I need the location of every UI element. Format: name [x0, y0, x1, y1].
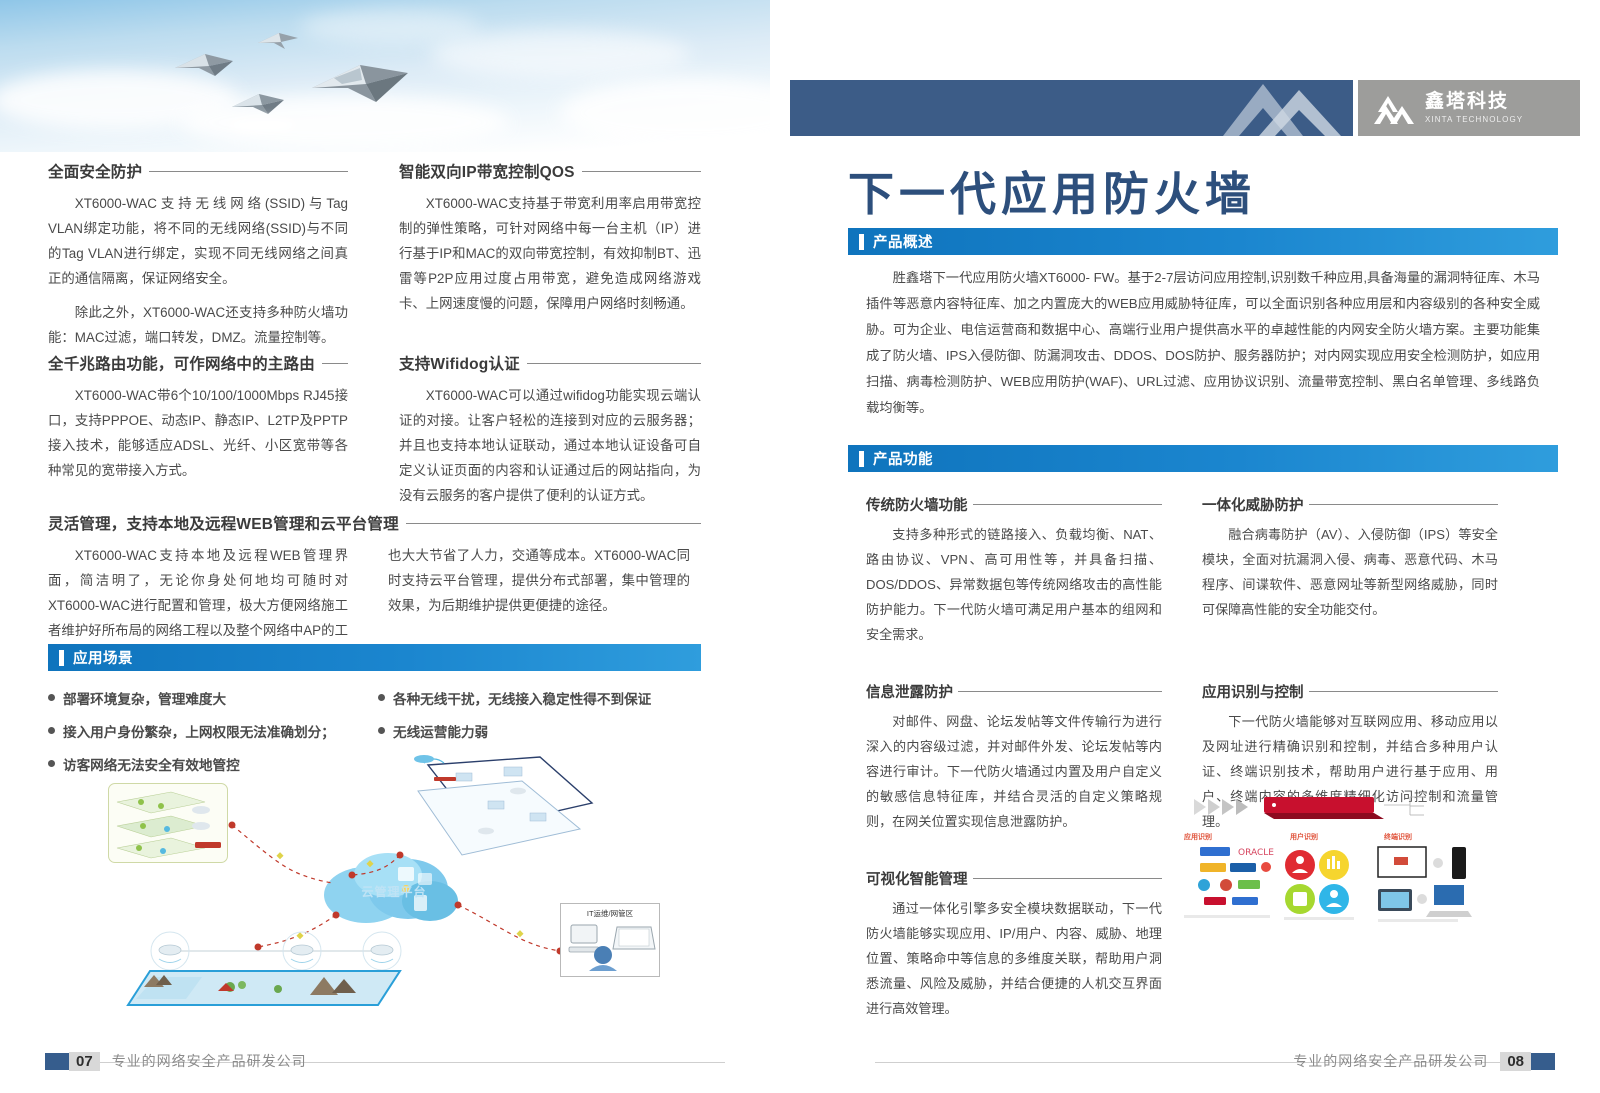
section-block-2: 智能双向IP带宽控制QOS XT6000-WAC支持基于带宽利用率启用带宽控制的… — [399, 160, 701, 316]
header-mountain-watermark — [1163, 80, 1353, 136]
section-heading: 智能双向IP带宽控制QOS — [399, 160, 701, 182]
heading-rule — [322, 363, 348, 364]
function-item-integrated-threat: 一体化威胁防护 融合病毒防护（AV）、入侵防御（IPS）等安全模块，全面对抗漏洞… — [1202, 494, 1498, 647]
function-title: 一体化威胁防护 — [1202, 494, 1498, 515]
function-title: 可视化智能管理 — [866, 868, 1162, 889]
list-item-label: 部署环境复杂，管理难度大 — [63, 688, 226, 708]
list-item-label: 接入用户身份繁杂，上网权限无法准确划分； — [63, 721, 335, 741]
section-paragraph: XT6000-WAC带6个10/100/1000Mbps RJ45接口，支持PP… — [48, 383, 348, 483]
paper-plane-icon — [232, 92, 284, 116]
brand-name-en: XINTA TECHNOLOGY — [1425, 115, 1523, 124]
bullet-dot-icon — [48, 727, 55, 734]
page-number: 08 — [1500, 1052, 1531, 1071]
section-paragraph: XT6000-WAC支持无线网络(SSID)与Tag VLAN绑定功能，将不同的… — [48, 191, 348, 291]
footer-bar-accent — [1531, 1053, 1555, 1070]
footer-slogan: 专业的网络安全产品研发公司 — [1293, 1051, 1488, 1071]
heading-rule — [149, 171, 348, 172]
function-item-visual-management: 可视化智能管理 通过一体化引擎多安全模块数据联动，下一代防火墙能够实现应用、IP… — [866, 868, 1162, 1021]
svg-text:ORACLE: ORACLE — [1238, 848, 1274, 858]
section-heading: 支持Wifidog认证 — [399, 352, 701, 374]
paper-plane-icon — [175, 52, 233, 78]
section-paragraph: 也大大节省了人力，交通等成本。XT6000-WAC同时支持云平台管理，提供分布式… — [388, 543, 690, 618]
bullet-dot-icon — [48, 760, 55, 767]
footer-bar-accent — [45, 1053, 69, 1070]
footer-left: 07 专业的网络安全产品研发公司 — [45, 1051, 307, 1071]
heading-rule — [1309, 504, 1499, 505]
scenic-area-illustration — [110, 965, 410, 1007]
heading-rule — [406, 523, 701, 524]
bullet-dot-icon — [48, 694, 55, 701]
cloud-shape — [300, 10, 480, 44]
function-text: 融合病毒防护（AV）、入侵防御（IPS）等安全模块，全面对抗漏洞入侵、病毒、恶意… — [1202, 522, 1498, 622]
brand-logo-box: 鑫塔科技 XINTA TECHNOLOGY — [1358, 80, 1580, 136]
paper-plane-icon — [312, 62, 408, 104]
list-item: 部署环境复杂，管理难度大 — [48, 688, 378, 708]
bullet-dot-icon — [378, 727, 385, 734]
bar-tick — [859, 234, 864, 250]
function-title: 传统防火墙功能 — [866, 494, 1162, 515]
function-title: 信息泄露防护 — [866, 681, 1162, 702]
right-page: 鑫塔科技 XINTA TECHNOLOGY 下一代应用防火墙 产品概述 胜鑫塔下… — [770, 0, 1600, 1093]
footer-right: 专业的网络安全产品研发公司 08 — [1293, 1051, 1555, 1071]
function-item-traditional-firewall: 传统防火墙功能 支持多种形式的链路接入、负载均衡、NAT、路由协议、VPN、高可… — [866, 494, 1162, 647]
section-paragraph: 除此之外，XT6000-WAC还支持多种防火墙功能：MAC过滤，端口转发，DMZ… — [48, 300, 348, 350]
lens-flare — [228, 118, 298, 132]
heading-rule — [958, 691, 1162, 692]
overview-bar: 产品概述 — [848, 228, 1558, 255]
heading-rule — [1309, 691, 1499, 692]
svg-text:终端识别: 终端识别 — [1384, 832, 1412, 841]
function-title: 应用识别与控制 — [1202, 681, 1498, 702]
sky-hero-image — [0, 0, 770, 152]
scenario-bar: 应用场景 — [48, 644, 701, 671]
svg-text:用户识别: 用户识别 — [1290, 832, 1318, 841]
brand-name-cn: 鑫塔科技 — [1425, 92, 1523, 111]
page-number: 07 — [69, 1052, 100, 1071]
section-paragraph: XT6000-WAC支持基于带宽利用率启用带宽控制的弹性策略，可针对网络中每一台… — [399, 191, 701, 316]
section-heading: 全面安全防护 — [48, 160, 348, 182]
left-page: 全面安全防护 XT6000-WAC支持无线网络(SSID)与Tag VLAN绑定… — [0, 0, 770, 1093]
network-topology-diagram: 云管理平台 IT运维/网 — [100, 755, 660, 1005]
xinta-mountain-icon — [1374, 90, 1416, 126]
header-navy-band — [790, 80, 1353, 136]
list-item: 各种无线干扰，无线接入稳定性得不到保证 — [378, 688, 678, 708]
overview-bar-label: 产品概述 — [873, 231, 933, 252]
it-ops-zone-box: IT运维/网管区 — [560, 903, 660, 977]
heading-rule — [973, 504, 1163, 505]
recognition-graphic: 应用识别 用户识别 终端识别 ORACLE — [1172, 793, 1472, 933]
section-heading: 全千兆路由功能，可作网络中的主路由 — [48, 352, 348, 374]
heading-rule — [527, 363, 701, 364]
cloud-shape — [560, 78, 770, 148]
section-block-3: 全千兆路由功能，可作网络中的主路由 XT6000-WAC带6个10/100/10… — [48, 352, 348, 483]
list-item-label: 无线运营能力弱 — [393, 721, 488, 741]
function-text: 支持多种形式的链路接入、负载均衡、NAT、路由协议、VPN、高可用性等，并具备扫… — [866, 522, 1162, 647]
list-item: 无线运营能力弱 — [378, 721, 678, 741]
function-text: 通过一体化引擎多安全模块数据联动，下一代防火墙能够实现应用、IP/用户、内容、威… — [866, 896, 1162, 1021]
bar-tick — [859, 451, 864, 467]
section-paragraph: XT6000-WAC可以通过wifidog功能实现云端认证的对接。让客户轻松的连… — [399, 383, 701, 508]
page-header: 鑫塔科技 XINTA TECHNOLOGY — [790, 80, 1580, 138]
overview-paragraph: 胜鑫塔下一代应用防火墙XT6000- FW。基于2-7层访问应用控制,识别数千种… — [848, 265, 1558, 421]
function-item-data-leak: 信息泄露防护 对邮件、网盘、论坛发帖等文件传输行为进行深入的内容级过滤，并对邮件… — [866, 681, 1162, 834]
functions-bar: 产品功能 — [848, 445, 1558, 472]
list-item-label: 各种无线干扰，无线接入稳定性得不到保证 — [393, 688, 651, 708]
section-block-4: 支持Wifidog认证 XT6000-WAC可以通过wifidog功能实现云端认… — [399, 352, 701, 508]
svg-text:应用识别: 应用识别 — [1184, 832, 1212, 841]
heading-rule — [973, 878, 1163, 879]
functions-row-1: 传统防火墙功能 支持多种形式的链路接入、负载均衡、NAT、路由协议、VPN、高可… — [848, 494, 1558, 647]
heading-rule — [582, 171, 701, 172]
cloud-shape — [430, 30, 690, 78]
it-ops-zone-label: IT运维/网管区 — [561, 908, 659, 919]
bullet-dot-icon — [378, 694, 385, 701]
bar-tick — [59, 650, 64, 666]
paper-plane-icon — [258, 32, 298, 50]
section-block-1: 全面安全防护 XT6000-WAC支持无线网络(SSID)与Tag VLAN绑定… — [48, 160, 348, 350]
function-text: 对邮件、网盘、论坛发帖等文件传输行为进行深入的内容级过滤，并对邮件外发、论坛发帖… — [866, 709, 1162, 834]
scenario-bar-label: 应用场景 — [73, 647, 133, 668]
page-title: 下一代应用防火墙 — [848, 158, 1256, 224]
list-item: 接入用户身份繁杂，上网权限无法准确划分； — [48, 721, 378, 741]
section-heading: 灵活管理，支持本地及远程WEB管理和云平台管理 — [48, 512, 701, 534]
functions-bar-label: 产品功能 — [873, 448, 933, 469]
footer-slogan: 专业的网络安全产品研发公司 — [112, 1051, 307, 1071]
